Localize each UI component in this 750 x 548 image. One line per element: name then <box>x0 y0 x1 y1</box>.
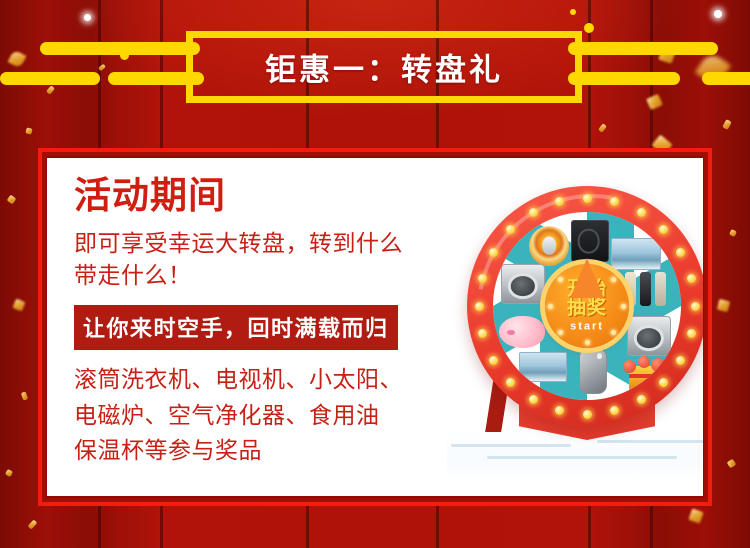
wheel-bulb <box>659 225 668 234</box>
banner-deco-bar <box>568 42 718 55</box>
wheel-bulb <box>583 194 592 203</box>
banner-deco-dot <box>584 23 594 33</box>
promo-paragraph: 即可享受幸运大转盘，转到什么带走什么！ <box>74 227 424 292</box>
confetti-flake <box>729 229 737 237</box>
prize-phone-case <box>579 348 607 394</box>
wheel-bulb <box>691 302 700 311</box>
wheel-bulb <box>637 395 646 404</box>
prize-television <box>611 238 661 270</box>
prize-line-2: 电磁炉、空气净化器、食用油 <box>74 398 424 434</box>
wheel-bulb <box>489 248 498 257</box>
banner-deco-dot <box>120 51 129 60</box>
ground-wave <box>487 456 677 459</box>
confetti-flake <box>12 298 25 311</box>
start-label-line2: 抽奖 <box>545 299 629 318</box>
banner-deco-bar <box>0 72 100 85</box>
promo-highlight-bar: 让你来时空手，回时满载而归 <box>74 305 398 350</box>
wheel-bulb <box>637 208 646 217</box>
wheel-bulb <box>478 274 487 283</box>
wheel-bulb <box>529 208 538 217</box>
banner-deco-dot <box>570 9 576 15</box>
sparkle-dot <box>714 10 722 18</box>
wheel-bulb <box>583 410 592 419</box>
hub-bulb <box>585 340 590 345</box>
prize-induction-cooker <box>571 220 609 262</box>
sparkle-dot <box>84 14 91 21</box>
confetti-flake <box>727 459 737 469</box>
confetti-flake <box>688 508 703 523</box>
confetti-flake <box>5 469 13 477</box>
content-card: 活动期间 即可享受幸运大转盘，转到什么带走什么！ 让你来时空手，回时满载而归 滚… <box>47 158 703 496</box>
wheel-bulb <box>555 197 564 206</box>
confetti-flake <box>21 391 28 400</box>
flask-icon <box>640 272 651 306</box>
prize-washing-machine <box>501 264 545 304</box>
prize-thermos-flasks <box>625 272 669 306</box>
page-title: 钜惠一：转盘礼 <box>186 45 582 90</box>
promo-banner-stage: 钜惠一：转盘礼 活动期间 即可享受幸运大转盘，转到什么带走什么！ 让你来时空手，… <box>0 0 750 548</box>
promo-copy: 活动期间 即可享受幸运大转盘，转到什么带走什么！ 让你来时空手，回时满载而归 滚… <box>74 176 424 469</box>
gift-ball-icon <box>651 358 665 372</box>
start-label-sub: start <box>545 320 629 332</box>
prize-line-1: 滚筒洗衣机、电视机、小太阳、 <box>74 362 424 398</box>
banner-deco-bar <box>702 72 750 85</box>
ground-wave <box>451 444 571 447</box>
confetti-flake <box>717 299 730 312</box>
banner-deco-bar <box>568 72 680 85</box>
wheel-bulb <box>475 302 484 311</box>
prize-line-3: 保温杯等参与奖品 <box>74 433 424 469</box>
wheel-bulb <box>489 356 498 365</box>
wheel-bulb <box>676 356 685 365</box>
prize-television <box>519 352 567 382</box>
gift-ball-icon <box>638 356 650 368</box>
prize-washing-machine <box>627 316 671 356</box>
wheel-bulb <box>676 248 685 257</box>
promo-heading: 活动期间 <box>74 176 424 217</box>
ground-wave <box>597 440 703 443</box>
title-banner: 钜惠一：转盘礼 <box>186 31 582 103</box>
wheel-bulb <box>555 406 564 415</box>
wheel-pointer-icon <box>570 258 604 298</box>
wheel-bulb <box>506 378 515 387</box>
wheel-rim: 开始 抽奖 start <box>467 186 703 426</box>
wheel-bulb <box>529 395 538 404</box>
prize-piggy-plush <box>499 316 545 348</box>
prize-wheel: 开始 抽奖 start <box>457 186 703 486</box>
wheel-disc: 开始 抽奖 start <box>493 212 681 400</box>
confetti-flake <box>7 195 17 205</box>
flask-icon <box>655 272 666 306</box>
wheel-bulb <box>659 378 668 387</box>
prize-small-sun-heater <box>529 226 569 266</box>
confetti-flake <box>28 519 38 529</box>
wheel-bulb <box>687 274 696 283</box>
gift-ball-icon <box>623 360 636 373</box>
prize-gift-box <box>621 356 667 392</box>
